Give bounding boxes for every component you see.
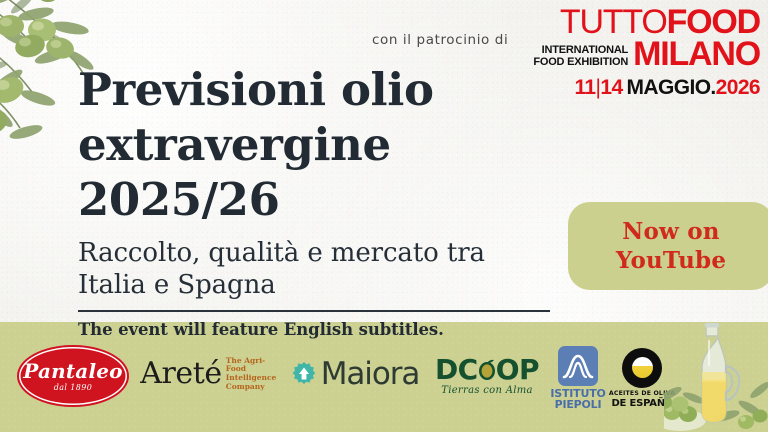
sponsor-logo-pantaleo[interactable]: Pantaleo dal 1890: [14, 338, 132, 414]
arete-tagline-line1: The Agri-Food: [226, 357, 278, 374]
poster-root: con il patrocinio di TUTTOFOOD INTERNATI…: [0, 0, 768, 432]
subtitle-line-2: Italia e Spagna: [78, 269, 578, 301]
piepoli-badge: [558, 346, 598, 386]
sponsor-logo-dcoop[interactable]: DC OP Tierras con Alma: [428, 348, 546, 404]
sponsor-logo-maiora[interactable]: Maiora: [292, 348, 418, 400]
page-subtitle: Raccolto, qualità e mercato tra Italia e…: [78, 237, 578, 301]
bell-curve-icon: [562, 352, 594, 380]
headline-block: Previsioni olio extravergine 2025/26 Rac…: [78, 62, 578, 339]
youtube-badge-line-2: YouTube: [616, 246, 726, 275]
tuttofood-milano-text: MILANO: [633, 39, 760, 70]
dcoop-name-left: DC: [435, 356, 478, 384]
page-title: Previsioni olio extravergine 2025/26: [78, 62, 578, 227]
arete-name: Areté: [140, 358, 222, 390]
dcoop-tagline: Tierras con Alma: [441, 385, 533, 396]
pantaleo-name: Pantaleo: [23, 361, 122, 381]
horizontal-divider: [78, 310, 550, 312]
english-subtitles-note: The event will feature English subtitles…: [78, 320, 578, 339]
date-month: MAGGIO.: [627, 76, 716, 99]
date-day-from: 11: [575, 76, 596, 99]
piepoli-name: ISTITUTO PIEPOLI: [550, 388, 605, 411]
date-year: 2026: [716, 76, 760, 99]
date-day-to: 14: [600, 76, 622, 99]
maiora-gear-icon: [291, 361, 317, 387]
dcoop-olive-icon: [477, 359, 497, 381]
tuttofood-date-row: 11|14MAGGIO.2026: [532, 76, 760, 100]
tuttofood-milano-logo: TUTTOFOOD INTERNATIONAL FOOD EXHIBITION …: [532, 6, 760, 100]
olive-oil-bottle-icon: [664, 322, 768, 432]
tuttofood-second-row: INTERNATIONAL FOOD EXHIBITION MILANO: [532, 39, 760, 70]
dcoop-name-right: OP: [496, 356, 539, 384]
dcoop-wordmark: DC OP: [435, 356, 539, 384]
arete-inner: Areté The Agri-Food Intelligence Company: [140, 357, 278, 391]
tuttofood-intl-line1: INTERNATIONAL: [533, 45, 628, 57]
tuttofood-wordmark: TUTTOFOOD: [532, 6, 760, 38]
subtitle-line-1: Raccolto, qualità e mercato tra: [78, 237, 578, 269]
pantaleo-oval-badge: Pantaleo dal 1890: [17, 345, 129, 407]
tuttofood-intl-line2: FOOD EXHIBITION: [533, 57, 628, 69]
arete-tagline-line3: Company: [226, 383, 278, 392]
title-line-2: extravergine 2025/26: [78, 117, 578, 227]
tuttofood-exhibition-subtitle: INTERNATIONAL FOOD EXHIBITION: [533, 45, 628, 70]
sponsor-logo-istituto-piepoli[interactable]: ISTITUTO PIEPOLI: [552, 340, 604, 416]
patronage-label: con il patrocinio di: [372, 32, 508, 48]
youtube-badge-line-1: Now on: [622, 217, 719, 246]
aceites-o-icon: [622, 348, 662, 388]
pantaleo-tagline: dal 1890: [54, 383, 93, 392]
sponsor-logo-arete[interactable]: Areté The Agri-Food Intelligence Company: [140, 348, 278, 400]
title-line-1: Previsioni olio: [78, 62, 578, 117]
maiora-inner: Maiora: [291, 358, 419, 390]
piepoli-name-line2: PIEPOLI: [550, 399, 605, 411]
now-on-youtube-badge[interactable]: Now on YouTube: [568, 202, 768, 290]
maiora-name: Maiora: [321, 358, 419, 390]
arete-tagline: The Agri-Food Intelligence Company: [226, 357, 278, 391]
